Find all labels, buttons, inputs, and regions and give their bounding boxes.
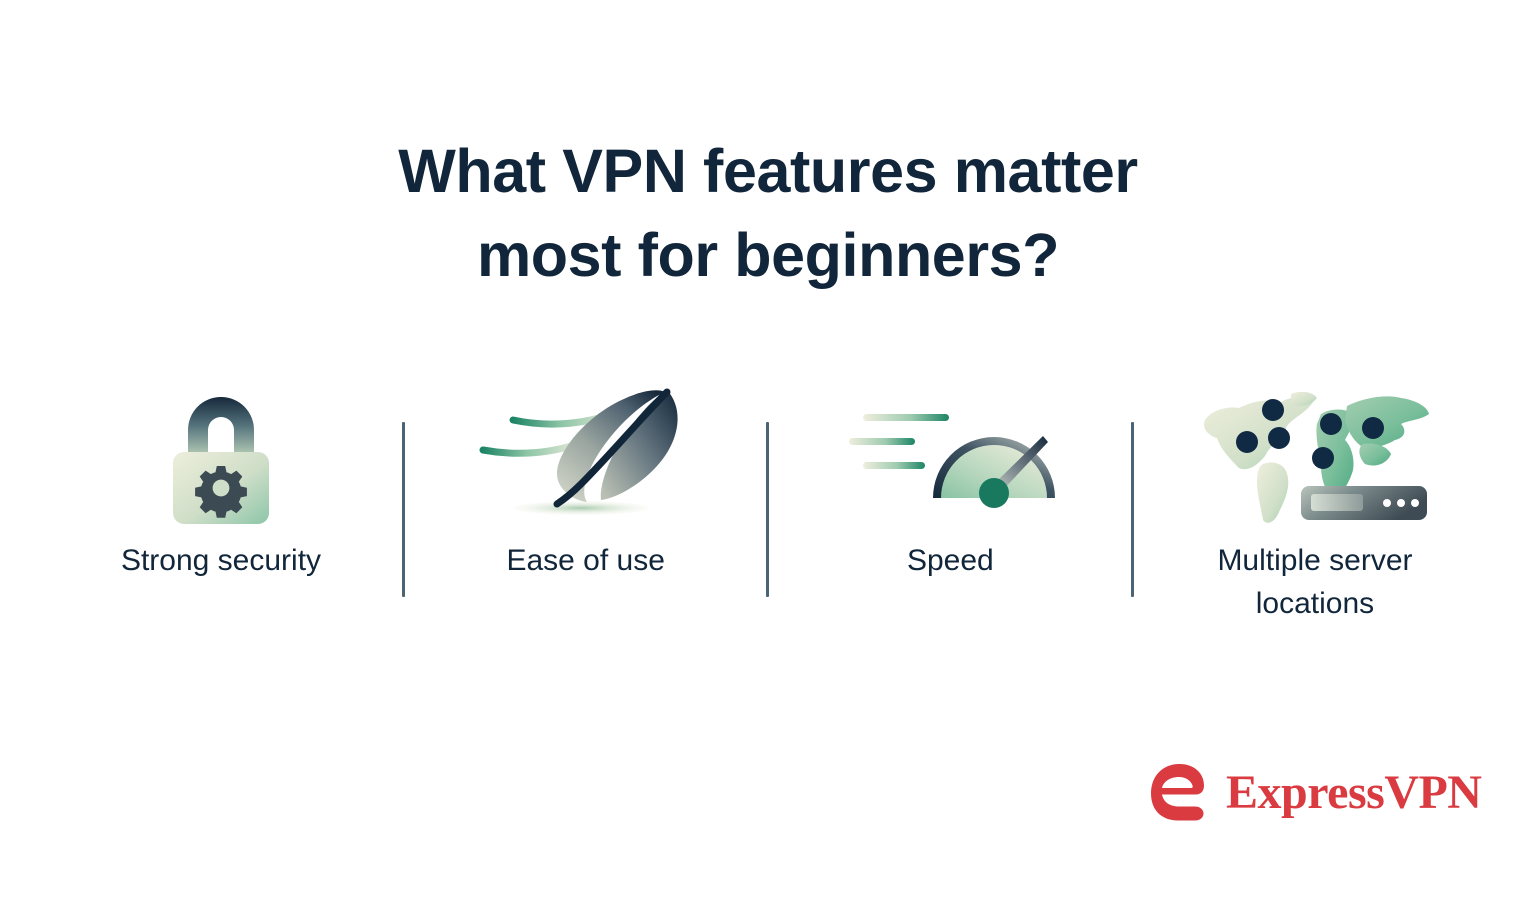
gear-icon: [195, 466, 247, 518]
feature-icon-container: [471, 380, 701, 530]
padlock-gear-icon: [146, 380, 296, 530]
page-title: What VPN features matter most for beginn…: [0, 129, 1536, 297]
feather-shadow: [513, 501, 649, 515]
location-dot-6: [1362, 417, 1384, 439]
server-led-1: [1383, 499, 1391, 507]
server-led-3: [1411, 499, 1419, 507]
location-dot-5: [1312, 447, 1334, 469]
speedometer-icon: [835, 380, 1065, 530]
speed-line-3: [863, 462, 925, 469]
feature-list: Strong security: [56, 380, 1480, 625]
feature-item-speed: Speed: [785, 380, 1115, 583]
continent-southeast-asia: [1359, 443, 1391, 465]
feature-item-server-locations: Multiple server locations: [1150, 380, 1480, 625]
feature-icon-container: [146, 380, 296, 530]
padlock-shackle: [188, 397, 254, 458]
server-display-panel: [1311, 494, 1363, 511]
speedometer-hub: [979, 478, 1009, 508]
expressvpn-logo[interactable]: ExpressVPN: [1146, 760, 1481, 826]
feature-label: Speed: [907, 540, 994, 583]
location-dot-1: [1262, 399, 1284, 421]
title-line-2: most for beginners?: [0, 213, 1536, 297]
feature-icon-container: [835, 380, 1065, 530]
continent-south-america: [1257, 462, 1288, 522]
feature-divider-1: [402, 422, 405, 597]
infographic-canvas: What VPN features matter most for beginn…: [0, 0, 1536, 907]
feature-icon-container: [1195, 380, 1435, 530]
feature-item-ease-of-use: Ease of use: [421, 380, 751, 583]
feature-label: Multiple server locations: [1180, 540, 1450, 625]
expressvpn-wordmark: ExpressVPN: [1226, 769, 1481, 817]
feature-divider-3: [1131, 422, 1134, 597]
feature-label: Strong security: [121, 540, 321, 583]
continent-asia: [1345, 396, 1429, 447]
feature-divider-2: [766, 422, 769, 597]
server-led-2: [1397, 499, 1405, 507]
feature-item-strong-security: Strong security: [56, 380, 386, 583]
world-map-server-icon: [1195, 380, 1435, 530]
expressvpn-e-mark-icon: [1146, 760, 1212, 826]
feather-icon: [471, 380, 701, 530]
location-dot-4: [1320, 413, 1342, 435]
continent-north-america: [1204, 398, 1313, 470]
continent-greenland: [1291, 392, 1317, 406]
speed-line-2: [849, 438, 915, 445]
location-dot-3: [1268, 427, 1290, 449]
location-dot-2: [1236, 431, 1258, 453]
title-line-1: What VPN features matter: [0, 129, 1536, 213]
feature-label: Ease of use: [506, 540, 664, 583]
speed-line-1: [863, 414, 949, 421]
